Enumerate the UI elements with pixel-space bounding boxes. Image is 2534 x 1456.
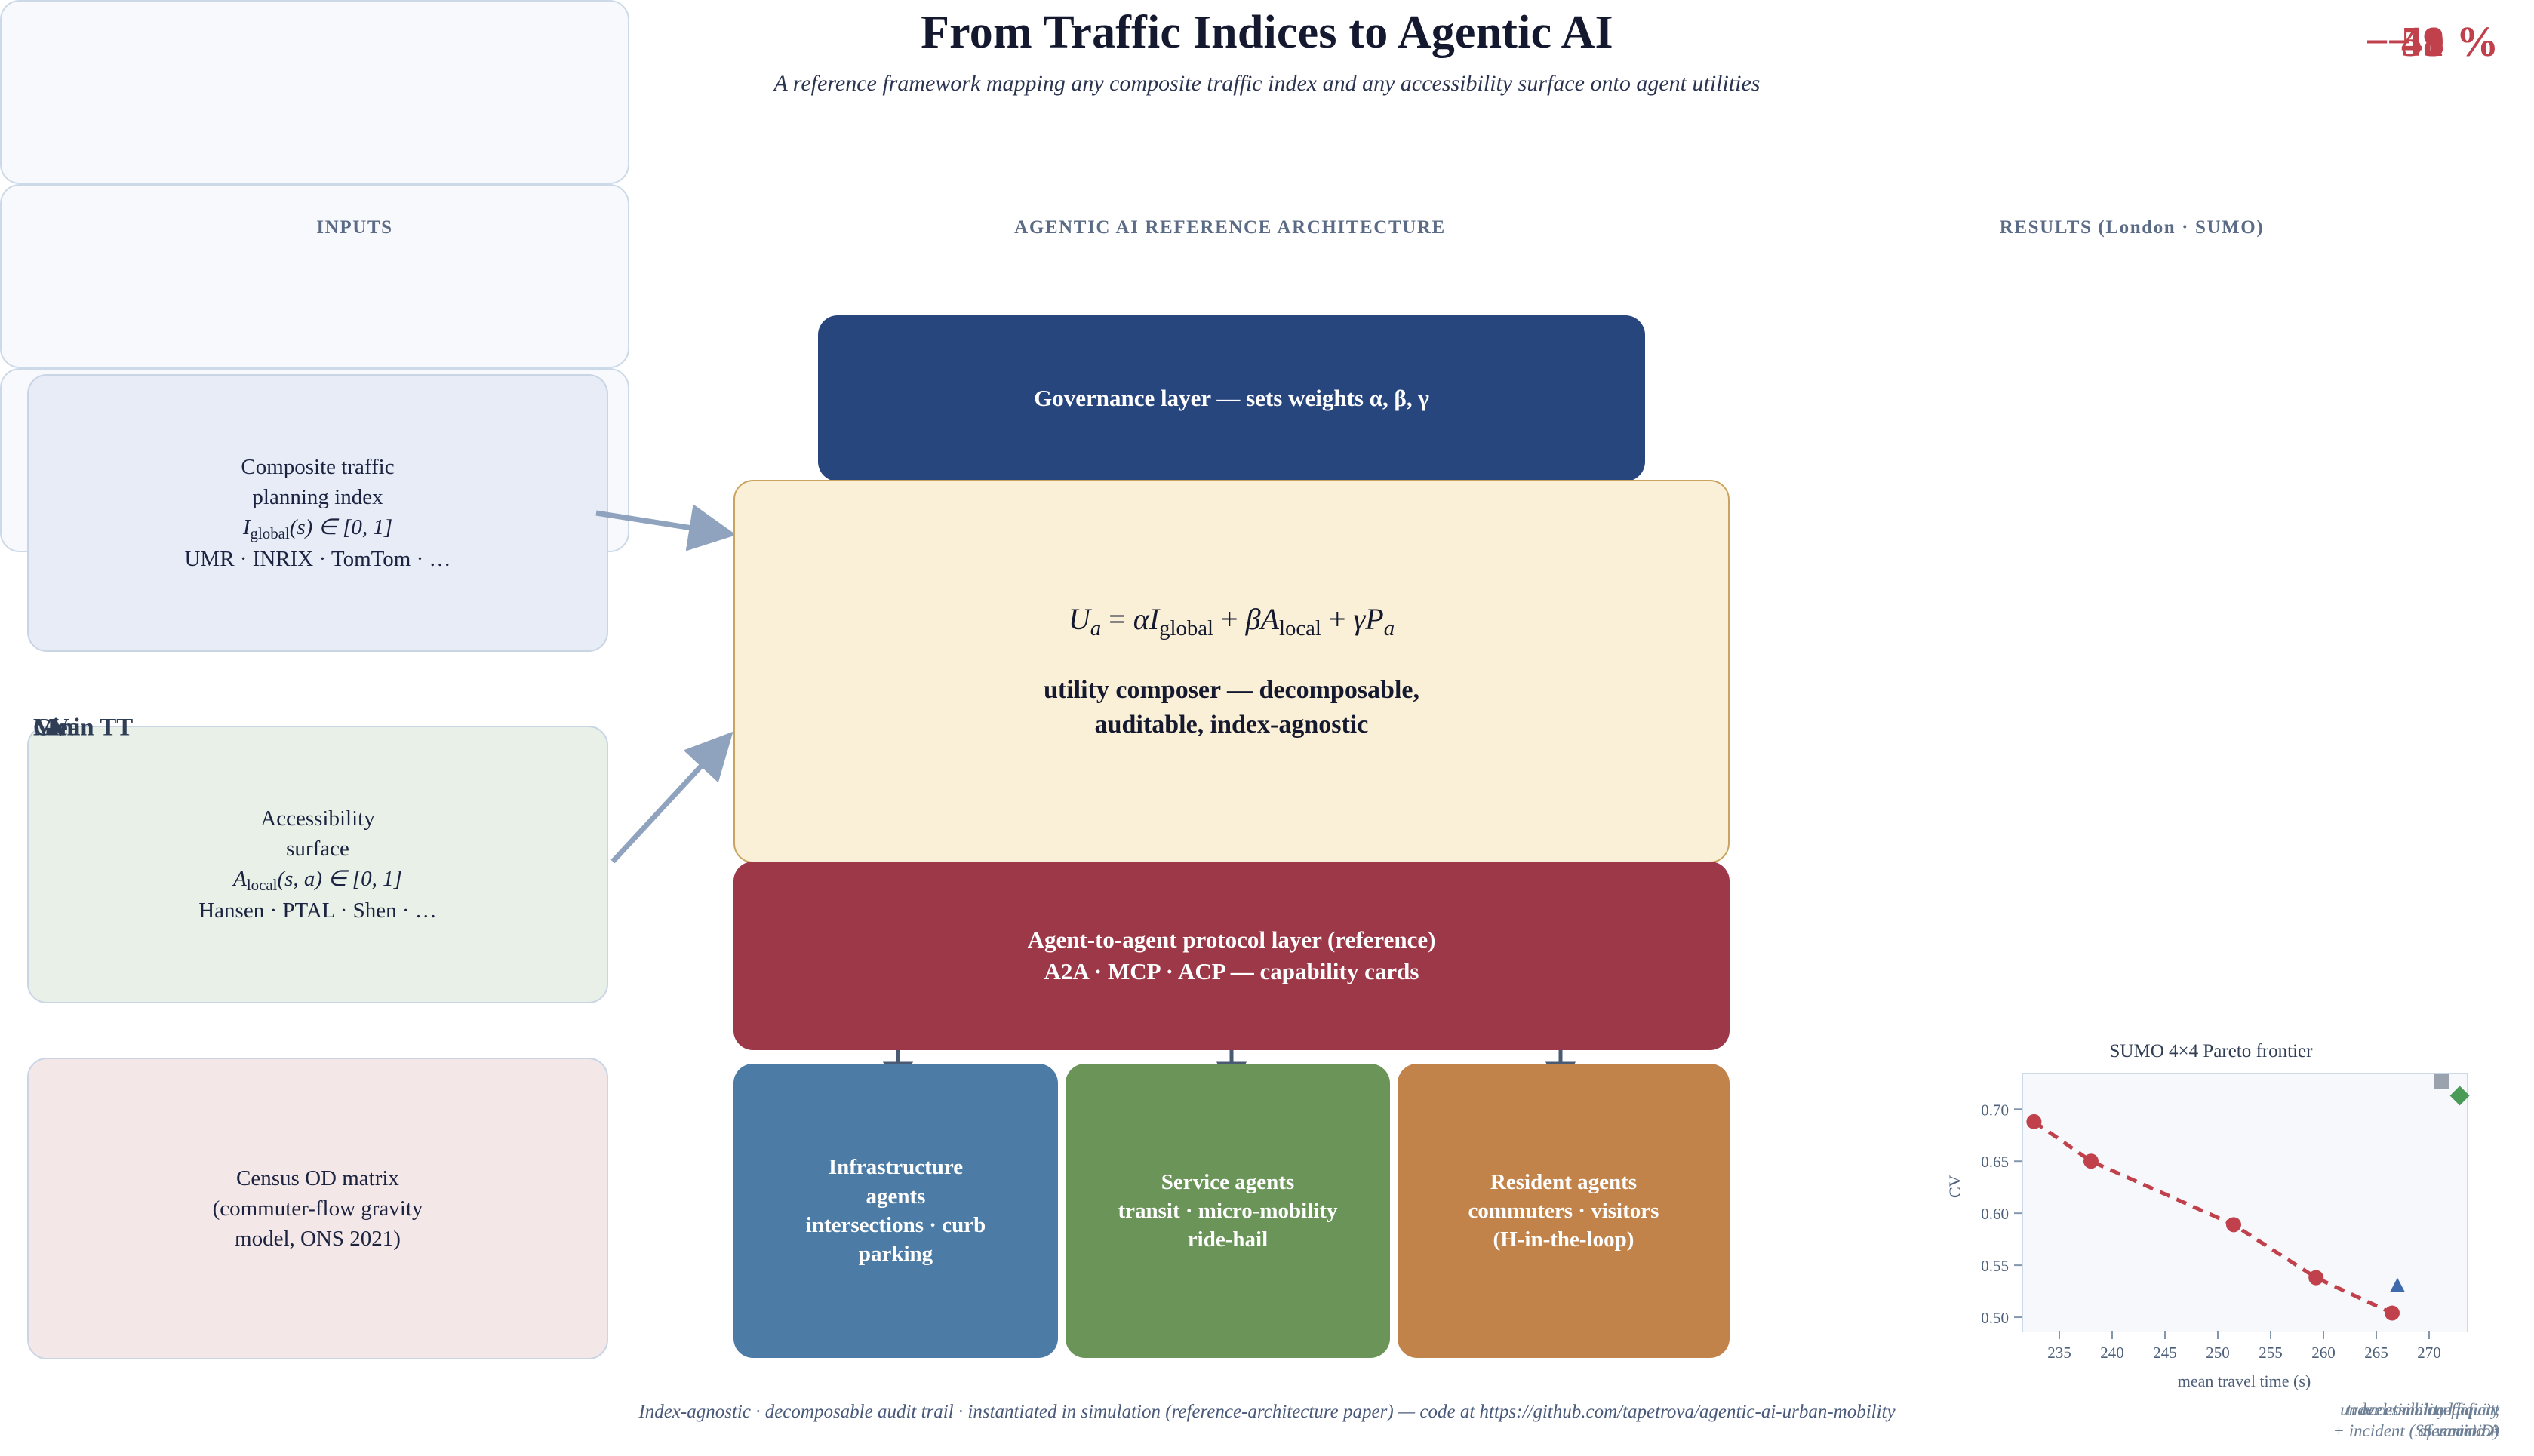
chart-y-tick-label: 0.65 [1981,1153,2009,1171]
chart-data-point [2226,1217,2241,1232]
agent-line-1: Resident agents [1468,1168,1659,1196]
chart-x-tick-label: 255 [2259,1344,2283,1362]
utility-formula: Ua = αIglobal + βAlocal + γPa [1069,601,1395,641]
formula-beta: β [1246,602,1261,636]
chart-data-point [2308,1270,2323,1286]
protocol-line-2: A2A · MCP · ACP — capability cards [1028,956,1436,988]
agent-box-service: Service agents transit · micro-mobility … [1066,1064,1390,1358]
agent-line-1: Infrastructure [806,1153,986,1181]
agent-box-infrastructure: Infrastructure agents intersections · cu… [733,1064,1058,1358]
chart-y-tick-label: 0.70 [1981,1101,2009,1119]
formula-u-sub: a [1090,616,1101,640]
chart-y-tick-label: 0.60 [1981,1205,2009,1223]
chart-reference-marker [2434,1074,2449,1089]
formula-u: U [1069,602,1090,636]
agent-line-2: agents [806,1182,986,1211]
agent-line-1: Service agents [1118,1168,1337,1196]
utility-composer-box: Ua = αIglobal + βAlocal + γPa utility co… [733,480,1730,863]
protocol-line-1: Agent-to-agent protocol layer (reference… [1028,924,1436,956]
result-note-line-2: + incident (Scenario D) [2333,1421,2499,1442]
result-value: − 9 % [2387,18,2499,66]
caption-line-2: auditable, index-agnostic [1044,708,1419,742]
chart-reference-marker [2390,1278,2405,1292]
protocol-layer-box: Agent-to-agent protocol layer (reference… [733,862,1730,1050]
formula-i: I [1149,602,1159,636]
formula-a: A [1261,602,1279,636]
formula-p: P [1365,602,1383,636]
formula-i-sub: global [1159,616,1213,640]
chart-x-tick-label: 235 [2047,1344,2071,1362]
governance-layer-box: Governance layer — sets weights α, β, γ [818,315,1645,481]
formula-gamma: γ [1354,602,1366,636]
footer-note: Index-agnostic · decomposable audit trai… [0,1402,2534,1423]
formula-equals: = [1109,602,1126,636]
chart-reference-marker [2450,1086,2470,1105]
formula-a-sub: local [1279,616,1321,640]
chart-x-tick-label: 270 [2417,1344,2441,1362]
chart-series-line [2034,1122,2392,1313]
pareto-frontier-chart: SUMO 4×4 Pareto frontier CV mean travel … [1932,1041,2490,1396]
chart-x-tick-label: 250 [2206,1344,2230,1362]
agent-line-4: parking [806,1239,986,1268]
agent-line-3: intersections · curb [806,1211,986,1239]
chart-data-point [2083,1153,2099,1169]
chart-canvas: 0.500.550.600.650.7023524024525025526026… [1932,1041,2490,1396]
chart-y-tick-label: 0.55 [1981,1257,2009,1275]
chart-y-tick-label: 0.50 [1981,1309,2009,1327]
agent-line-2: commuters · visitors [1468,1196,1659,1225]
chart-data-point [2026,1114,2041,1129]
formula-plus-2: + [1329,602,1346,636]
governance-layer-label: Governance layer — sets weights α, β, γ [1034,385,1429,412]
agent-line-2: transit · micro-mobility [1118,1196,1337,1225]
chart-x-tick-label: 245 [2153,1344,2177,1362]
chart-x-tick-label: 260 [2311,1344,2336,1362]
agent-box-resident: Resident agents commuters · visitors (H-… [1398,1064,1730,1358]
utility-composer-caption: utility composer — decomposable, auditab… [1044,673,1419,741]
caption-line-1: utility composer — decomposable, [1044,673,1419,707]
formula-alpha: α [1133,602,1149,636]
agent-line-3: (H-in-the-loop) [1468,1225,1659,1254]
arrow-accessibility-to-composer [613,739,726,862]
formula-plus-1: + [1221,602,1238,636]
chart-x-tick-label: 240 [2100,1344,2124,1362]
agent-line-3: ride-hail [1118,1225,1337,1254]
formula-p-sub: a [1384,616,1395,640]
chart-data-point [2385,1306,2400,1321]
result-label: Mean TT [33,714,133,742]
arrow-index-to-composer [596,513,726,533]
chart-x-tick-label: 265 [2364,1344,2388,1362]
